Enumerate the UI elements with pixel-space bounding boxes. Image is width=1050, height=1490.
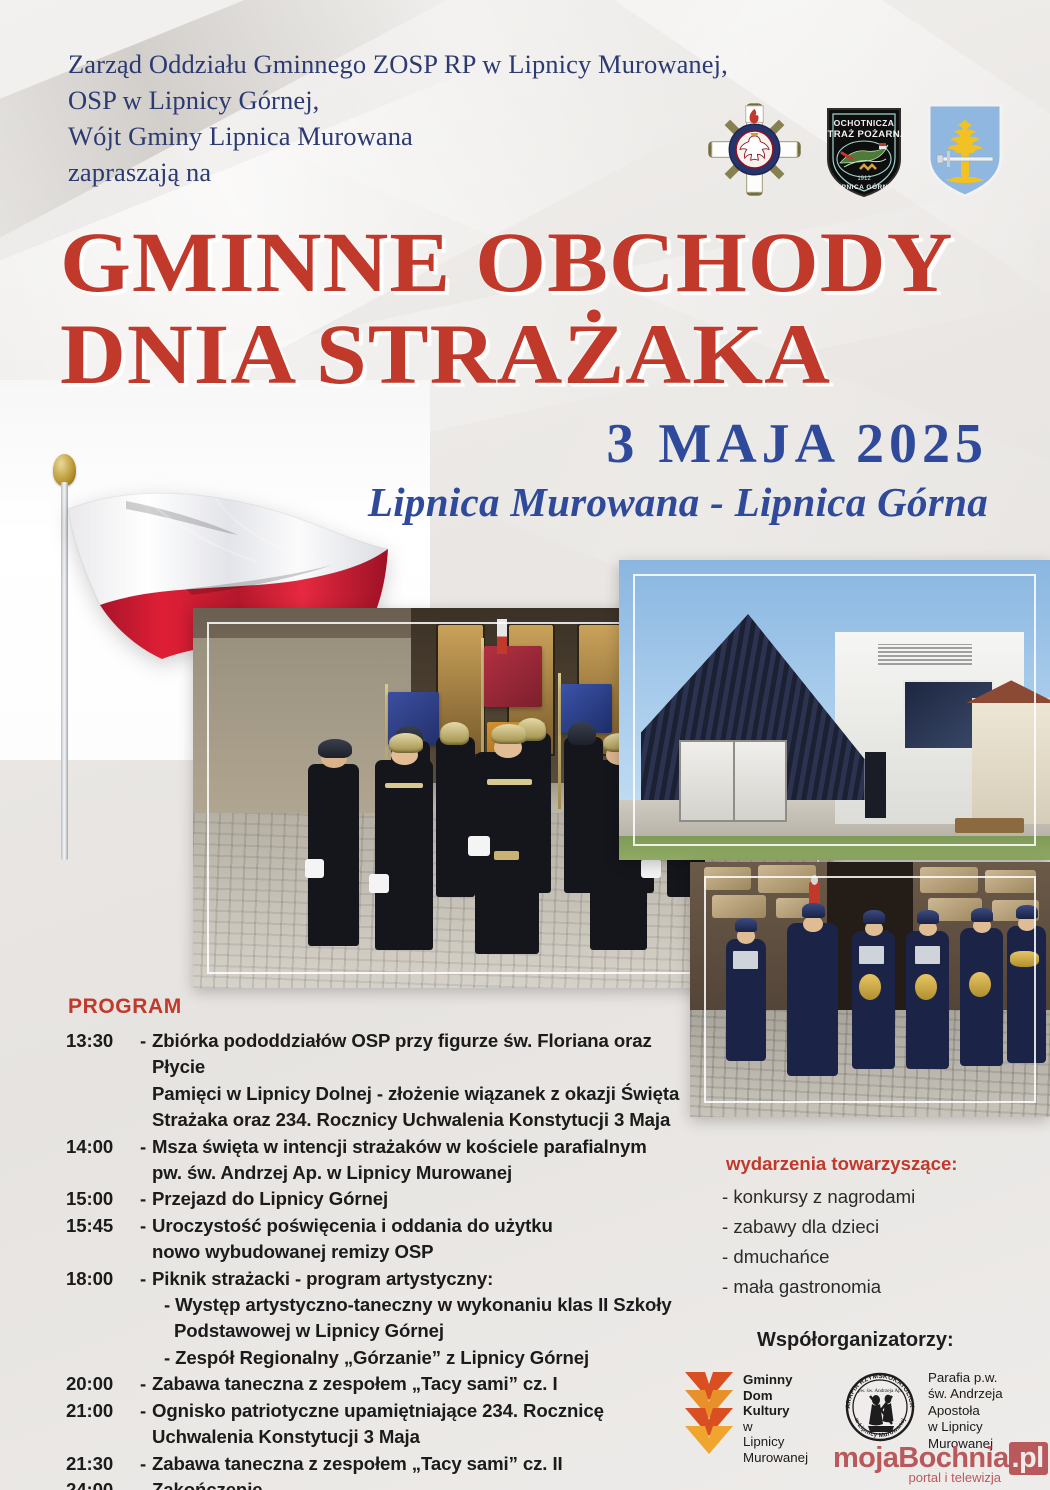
program-desc-cont: Strażaka oraz 234. Rocznicy Uchwalenia K…	[152, 1107, 686, 1133]
accompanying-item: - zabawy dla dzieci	[722, 1212, 915, 1242]
program-dash: -	[140, 1451, 152, 1477]
parish-line-3: Apostoła	[928, 1403, 1003, 1419]
invitation-line-1: Zarząd Oddziału Gminnego ZOSP RP w Lipni…	[68, 46, 708, 82]
program-dash: -	[140, 1186, 152, 1212]
svg-text:1912: 1912	[857, 176, 871, 182]
photo-new-fire-station	[619, 560, 1050, 860]
invitation-line-2: OSP w Lipnicy Górnej,	[68, 82, 708, 118]
gdk-line-6: Murowanej	[743, 1450, 808, 1466]
program-desc: Zabawa taneczna z zespołem „Tacy sami” c…	[152, 1371, 686, 1397]
program-time: 14:00	[66, 1134, 140, 1160]
coorganizers-heading: Współorganizatorzy:	[757, 1329, 954, 1352]
program-time: 20:00	[66, 1371, 140, 1397]
program-dash: -	[140, 1477, 152, 1490]
program-list: 13:30 - Zbiórka pododdziałów OSP przy fi…	[66, 1028, 686, 1490]
program-desc: Uroczystość poświęcenia i oddania do uży…	[152, 1213, 686, 1239]
parish-line-4: w Lipnicy	[928, 1419, 1003, 1435]
fire-station-sign	[878, 644, 973, 665]
program-subitem: - Zespół Regionalny „Górzanie” z Lipnicy…	[164, 1345, 686, 1371]
gdk-line-2: Dom	[743, 1388, 773, 1403]
program-time: 15:45	[66, 1213, 140, 1239]
gdk-line-1: Gminny	[743, 1372, 793, 1387]
svg-text:pw. św. Andrzeja Ap.: pw. św. Andrzeja Ap.	[858, 1388, 902, 1394]
program-item: 24:00 - Zakończenie	[66, 1477, 686, 1490]
parish-line-2: św. Andrzeja	[928, 1386, 1003, 1402]
photo-brass-band	[690, 862, 1050, 1117]
accompanying-list: - konkursy z nagrodami - zabawy dla dzie…	[722, 1182, 915, 1302]
program-desc: Zabawa taneczna z zespołem „Tacy sami” c…	[152, 1451, 686, 1477]
program-dash: -	[140, 1266, 152, 1292]
program-time: 24:00	[66, 1477, 140, 1490]
program-dash: -	[140, 1134, 152, 1160]
poster-canvas: Zarząd Oddziału Gminnego ZOSP RP w Lipni…	[0, 0, 1050, 1490]
program-subitem: - Występ artystyczno-taneczny w wykonani…	[164, 1292, 686, 1318]
program-item: 21:00 - Ognisko patriotyczne upamiętniaj…	[66, 1398, 686, 1424]
gdk-logo-block: Gminny Dom Kultury w Lipnicy Murowanej	[683, 1368, 823, 1464]
program-heading: PROGRAM	[68, 995, 182, 1019]
title-line-1: GMINNE OBCHODY	[60, 216, 1050, 308]
program-dash: -	[140, 1371, 152, 1397]
accompanying-item: - konkursy z nagrodami	[722, 1182, 915, 1212]
event-date: 3 MAJA 2025	[368, 414, 988, 474]
title-line-2: DNIA STRAŻAKA	[60, 308, 1050, 400]
parish-line-1: Parafia p.w.	[928, 1370, 1003, 1386]
zosp-rp-badge-icon	[706, 101, 803, 203]
event-date-block: 3 MAJA 2025 Lipnica Murowana - Lipnica G…	[368, 414, 988, 528]
program-desc: Zakończenie	[152, 1477, 686, 1490]
program-dash: -	[140, 1398, 152, 1424]
program-desc: Przejazd do Lipnicy Górnej	[152, 1186, 686, 1212]
program-item: 20:00 - Zabawa taneczna z zespołem „Tacy…	[66, 1371, 686, 1397]
invitation-line-3: Wójt Gminy Lipnica Murowana	[68, 118, 708, 154]
gdk-name: Gminny Dom Kultury w Lipnicy Murowanej	[743, 1368, 808, 1464]
gmina-coat-of-arms-icon	[925, 101, 1005, 203]
watermark-mojabochnia[interactable]: mojaBochnia.pl portal i telewizja	[833, 1443, 1045, 1487]
program-time: 15:00	[66, 1186, 140, 1212]
accompanying-item: - dmuchańce	[722, 1242, 915, 1272]
svg-text:OCHOTNICZA: OCHOTNICZA	[834, 118, 895, 128]
program-item: 13:30 - Zbiórka pododdziałów OSP przy fi…	[66, 1028, 686, 1081]
event-place: Lipnica Murowana - Lipnica Górna	[368, 476, 988, 528]
program-time: 13:30	[66, 1028, 140, 1081]
invitation-text: Zarząd Oddziału Gminnego ZOSP RP w Lipni…	[68, 46, 708, 190]
invitation-line-4: zapraszają na	[68, 154, 708, 190]
program-desc: Zbiórka pododdziałów OSP przy figurze św…	[152, 1028, 686, 1081]
accompanying-heading: wydarzenia towarzyszące:	[726, 1153, 958, 1175]
program-desc: Piknik strażacki - program artystyczny:	[152, 1266, 686, 1292]
accompanying-item: - mała gastronomia	[722, 1272, 915, 1302]
program-time: 18:00	[66, 1266, 140, 1292]
svg-text:STRAŻ POŻARNA: STRAŻ POŻARNA	[822, 129, 906, 140]
program-item: 15:45 - Uroczystość poświęcenia i oddani…	[66, 1213, 686, 1239]
program-dash: -	[140, 1213, 152, 1239]
watermark-main: mojaBochnia.pl	[833, 1443, 1045, 1473]
gdk-line-5: Lipnicy	[743, 1434, 808, 1450]
svg-text:LIPNICA GÓRNA: LIPNICA GÓRNA	[835, 182, 893, 191]
gdk-line-4: w	[743, 1419, 808, 1435]
program-item: 18:00 - Piknik strażacki - program artys…	[66, 1266, 686, 1292]
gdk-chevron-logo-icon	[683, 1368, 735, 1460]
program-item: 21:30 - Zabawa taneczna z zespołem „Tacy…	[66, 1451, 686, 1477]
program-item: 15:00 - Przejazd do Lipnicy Górnej	[66, 1186, 686, 1212]
program-desc: Ognisko patriotyczne upamiętniające 234.…	[152, 1398, 686, 1424]
osp-lipnica-gorna-shield-icon: OCHOTNICZA STRAŻ POŻARNA 1912 LIPNICA GÓ…	[822, 101, 906, 203]
program-time: 21:30	[66, 1451, 140, 1477]
program-subitem: Podstawowej w Lipnicy Górnej	[174, 1318, 686, 1344]
watermark-tld: .pl	[1009, 1442, 1048, 1475]
program-item: 14:00 - Msza święta w intencji strażaków…	[66, 1134, 686, 1160]
program-desc-cont: nowo wybudowanej remizy OSP	[152, 1239, 686, 1265]
program-desc-cont: Pamięci w Lipnicy Dolnej - złożenie wiąz…	[152, 1081, 686, 1107]
program-desc-cont: Uchwalenia Konstytucji 3 Maja	[152, 1424, 686, 1450]
program-time: 21:00	[66, 1398, 140, 1424]
page-title: GMINNE OBCHODY DNIA STRAŻAKA	[60, 216, 1000, 400]
program-desc: Msza święta w intencji strażaków w kości…	[152, 1134, 686, 1160]
program-desc-cont: pw. św. Andrzej Ap. w Lipnicy Murowanej	[152, 1160, 686, 1186]
parish-seal-icon: PARAFIA RZYMSKOKATOLICKA w Lipnicy Murow…	[840, 1366, 920, 1448]
program-dash: -	[140, 1028, 152, 1081]
gdk-line-3: Kultury	[743, 1403, 790, 1418]
organizer-logos: OCHOTNICZA STRAŻ POŻARNA 1912 LIPNICA GÓ…	[706, 101, 1005, 203]
